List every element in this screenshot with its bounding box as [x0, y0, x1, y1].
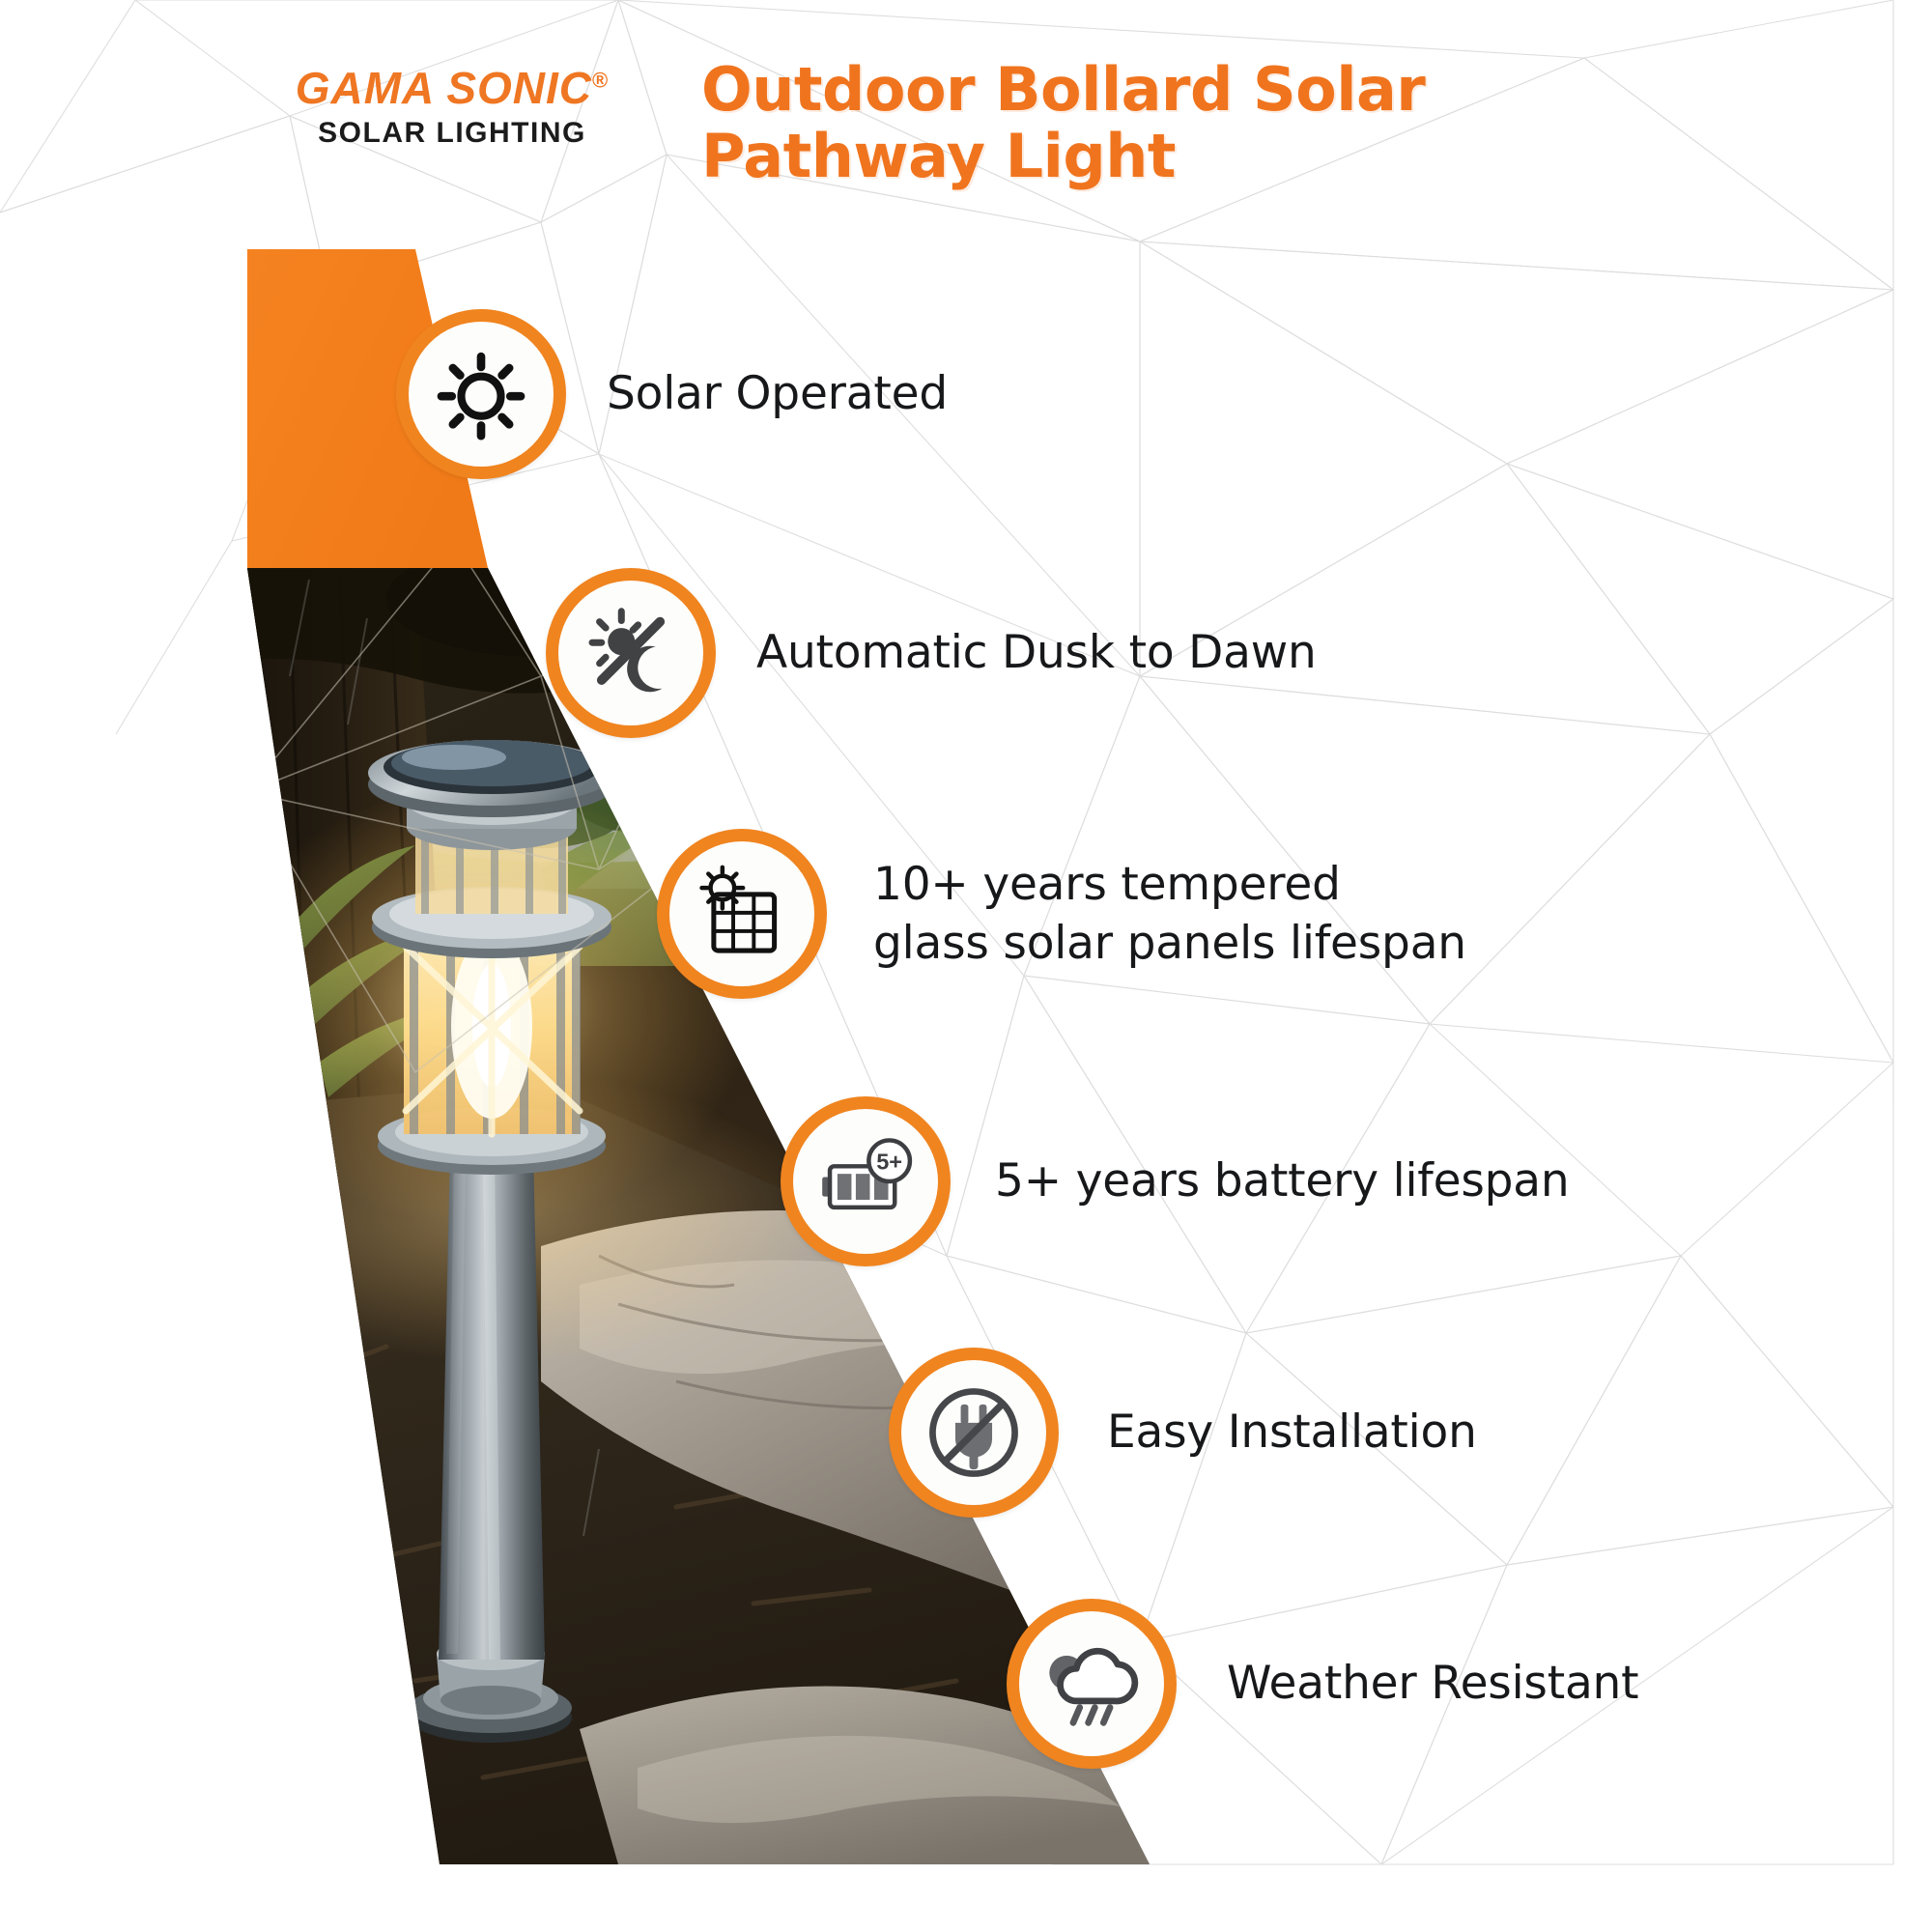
dusk-to-dawn-icon: [579, 601, 683, 705]
feature-row-dusk-to-dawn: Automatic Dusk to Dawn: [546, 568, 1317, 738]
solar-panel-icon: [688, 860, 796, 968]
feature-badge: [396, 309, 566, 479]
rain-cloud-icon: [1037, 1630, 1146, 1738]
brand-logo: GAMA SONIC® SOLAR LIGHTING: [278, 66, 626, 148]
feature-badge: [546, 568, 716, 738]
page-title: Outdoor Bollard Solar Pathway Light: [701, 56, 1425, 190]
feature-row-weather-resistant: Weather Resistant: [1007, 1599, 1638, 1769]
feature-badge: [1007, 1599, 1177, 1769]
feature-label: 10+ years tempered glass solar panels li…: [873, 855, 1466, 973]
sun-icon: [429, 342, 533, 446]
feature-label: Automatic Dusk to Dawn: [756, 623, 1317, 682]
feature-row-battery-lifespan: 5+ 5+ years battery lifespan: [781, 1096, 1569, 1266]
feature-label: Weather Resistant: [1227, 1654, 1638, 1713]
feature-row-panel-lifespan: 10+ years tempered glass solar panels li…: [657, 829, 1466, 999]
feature-row-easy-installation: Easy Installation: [889, 1348, 1477, 1518]
feature-label: Solar Operated: [607, 364, 948, 423]
registered-trademark-icon: ®: [592, 69, 609, 93]
no-plug-icon: [920, 1378, 1028, 1487]
feature-badge: [657, 829, 827, 999]
feature-badge: 5+: [781, 1096, 951, 1266]
brand-name: GAMA SONIC®: [278, 66, 626, 110]
feature-row-solar-operated: Solar Operated: [396, 309, 948, 479]
brand-tagline: SOLAR LIGHTING: [278, 119, 626, 148]
feature-label: Easy Installation: [1107, 1403, 1477, 1462]
battery-badge-text: 5+: [876, 1150, 902, 1175]
feature-label: 5+ years battery lifespan: [995, 1151, 1569, 1210]
feature-badge: [889, 1348, 1059, 1518]
brand-name-text: GAMA SONIC: [296, 63, 592, 113]
infographic-canvas: GAMA SONIC® SOLAR LIGHTING Outdoor Bolla…: [0, 0, 1932, 1932]
battery-5plus-icon: 5+: [811, 1127, 920, 1236]
